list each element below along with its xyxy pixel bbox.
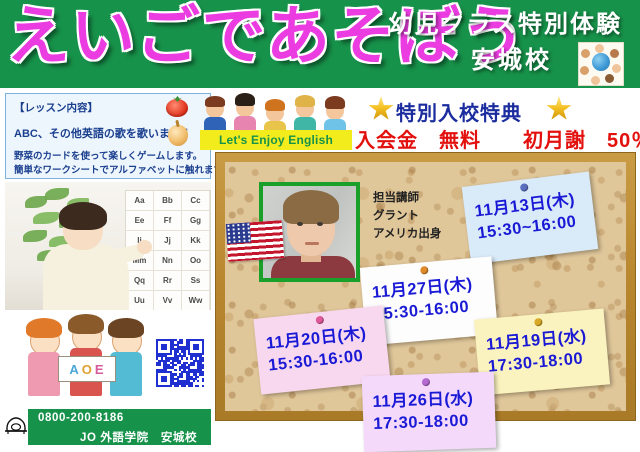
kid-figure: [292, 91, 318, 132]
tomato-icon: [166, 99, 188, 117]
qr-module: [202, 385, 204, 387]
header-banner: えいごであそぼう 幼児クラス特別体験 安城校: [0, 0, 640, 88]
promo-offer: 入会金 無料 初月謝 50％オフ: [355, 124, 640, 153]
note-time: 17:30-18:00: [373, 411, 488, 434]
kid-figure: [322, 93, 348, 133]
logo-kid: [581, 49, 590, 58]
logo-kid: [612, 64, 621, 73]
lesson-content-line-2: 野菜のカードを使って楽しくゲームします。: [14, 148, 202, 162]
note-date: 11月26日(水): [372, 384, 487, 412]
schedule-note[interactable]: 11月26日(水) 17:30-18:00: [362, 372, 497, 452]
instructor-name: グラント: [373, 208, 441, 226]
contact-phone-number[interactable]: 0800-200-8186: [38, 412, 124, 424]
contact-school-name: JO 外語学院 安城校: [80, 429, 197, 445]
lesson-content-line-3: 簡単なワークシートでアルファベットに触れます。: [14, 162, 231, 176]
logo-kid: [610, 49, 619, 58]
globe-icon: [592, 53, 610, 71]
onion-icon: [168, 125, 188, 146]
child-with-alphabet-chart-photo: AaBbCc EeFfGg IiJjKk MmNnOo QqRrSs UuVvW…: [5, 182, 211, 310]
header-subtitle-class: 幼児クラス特別体験: [388, 4, 622, 39]
lesson-content-line-1: ABC、その他英語の歌を歌います！: [14, 125, 192, 141]
lets-enjoy-english-banner: Let's Enjoy English: [200, 130, 352, 150]
sign-letter-a: A: [69, 362, 79, 377]
flyer-page: えいごであそぼう 幼児クラス特別体験 安城校 【レッスン内容】 ABC、その他英…: [0, 0, 640, 452]
header-subtitle-campus: 安城校: [471, 40, 552, 75]
promo-title: 特別入校特典: [396, 97, 522, 126]
schedule-note[interactable]: 11月13日(木) 15:30~16:00: [462, 171, 599, 264]
logo-kid: [580, 66, 589, 75]
cork-board: 担当講師 グラント アメリカ出身 11月13日(木) 15:30~16:00 1…: [215, 152, 636, 421]
logo-kid: [605, 74, 614, 83]
qr-code[interactable]: [156, 339, 204, 387]
instructor-role: 担当講師: [373, 190, 441, 208]
kids-banner-group: Let's Enjoy English: [196, 90, 368, 152]
schedule-note[interactable]: 11月19日(水) 17:30-18:00: [474, 308, 610, 395]
sign-letter-e: E: [95, 362, 105, 377]
gold-star-icon: [546, 96, 572, 122]
kid-figure: [202, 92, 228, 132]
sign-letter-o: O: [82, 362, 93, 377]
kid-figure: [232, 90, 258, 132]
aoe-sign: A O E: [58, 356, 116, 382]
us-flag-icon: [226, 220, 285, 262]
gold-star-icon: [368, 96, 394, 122]
school-globe-kids-logo: [578, 42, 624, 86]
lesson-content-heading: 【レッスン内容】: [14, 100, 98, 115]
instructor-origin: アメリカ出身: [373, 226, 441, 244]
logo-kid: [591, 76, 600, 85]
banner-label: Let's Enjoy English: [219, 133, 333, 147]
instructor-info: 担当講師 グラント アメリカ出身: [373, 190, 441, 243]
telephone-icon: [4, 414, 28, 436]
logo-kid: [595, 44, 604, 53]
kid-figure: [262, 96, 288, 134]
kids-holding-aoe-sign-illustration: A O E: [22, 312, 150, 404]
